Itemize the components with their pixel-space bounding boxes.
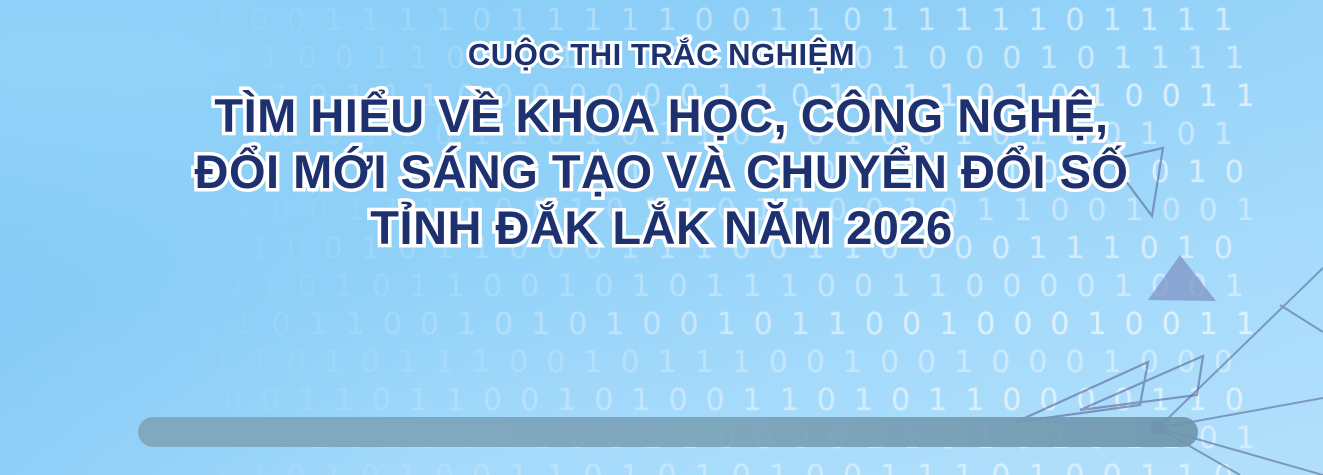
banner-headline-line-2: ĐỔI MỚI SÁNG TẠO VÀ CHUYỂN ĐỔI SỐ	[185, 144, 1139, 200]
banner-kicker: CUỘC THI TRẮC NGHIỆM	[468, 38, 855, 72]
banner-headline-line-1: TÌM HIỂU VỀ KHOA HỌC, CÔNG NGHỆ,	[204, 88, 1118, 144]
banner-content: CUỘC THI TRẮC NGHIỆM TÌM HIỂU VỀ KHOA HỌ…	[0, 0, 1323, 475]
banner-headline-line-3: TỈNH ĐẮK LẮK NĂM 2026	[360, 200, 962, 256]
contest-banner: 1101111001111011111001101111101111101010…	[0, 0, 1323, 475]
